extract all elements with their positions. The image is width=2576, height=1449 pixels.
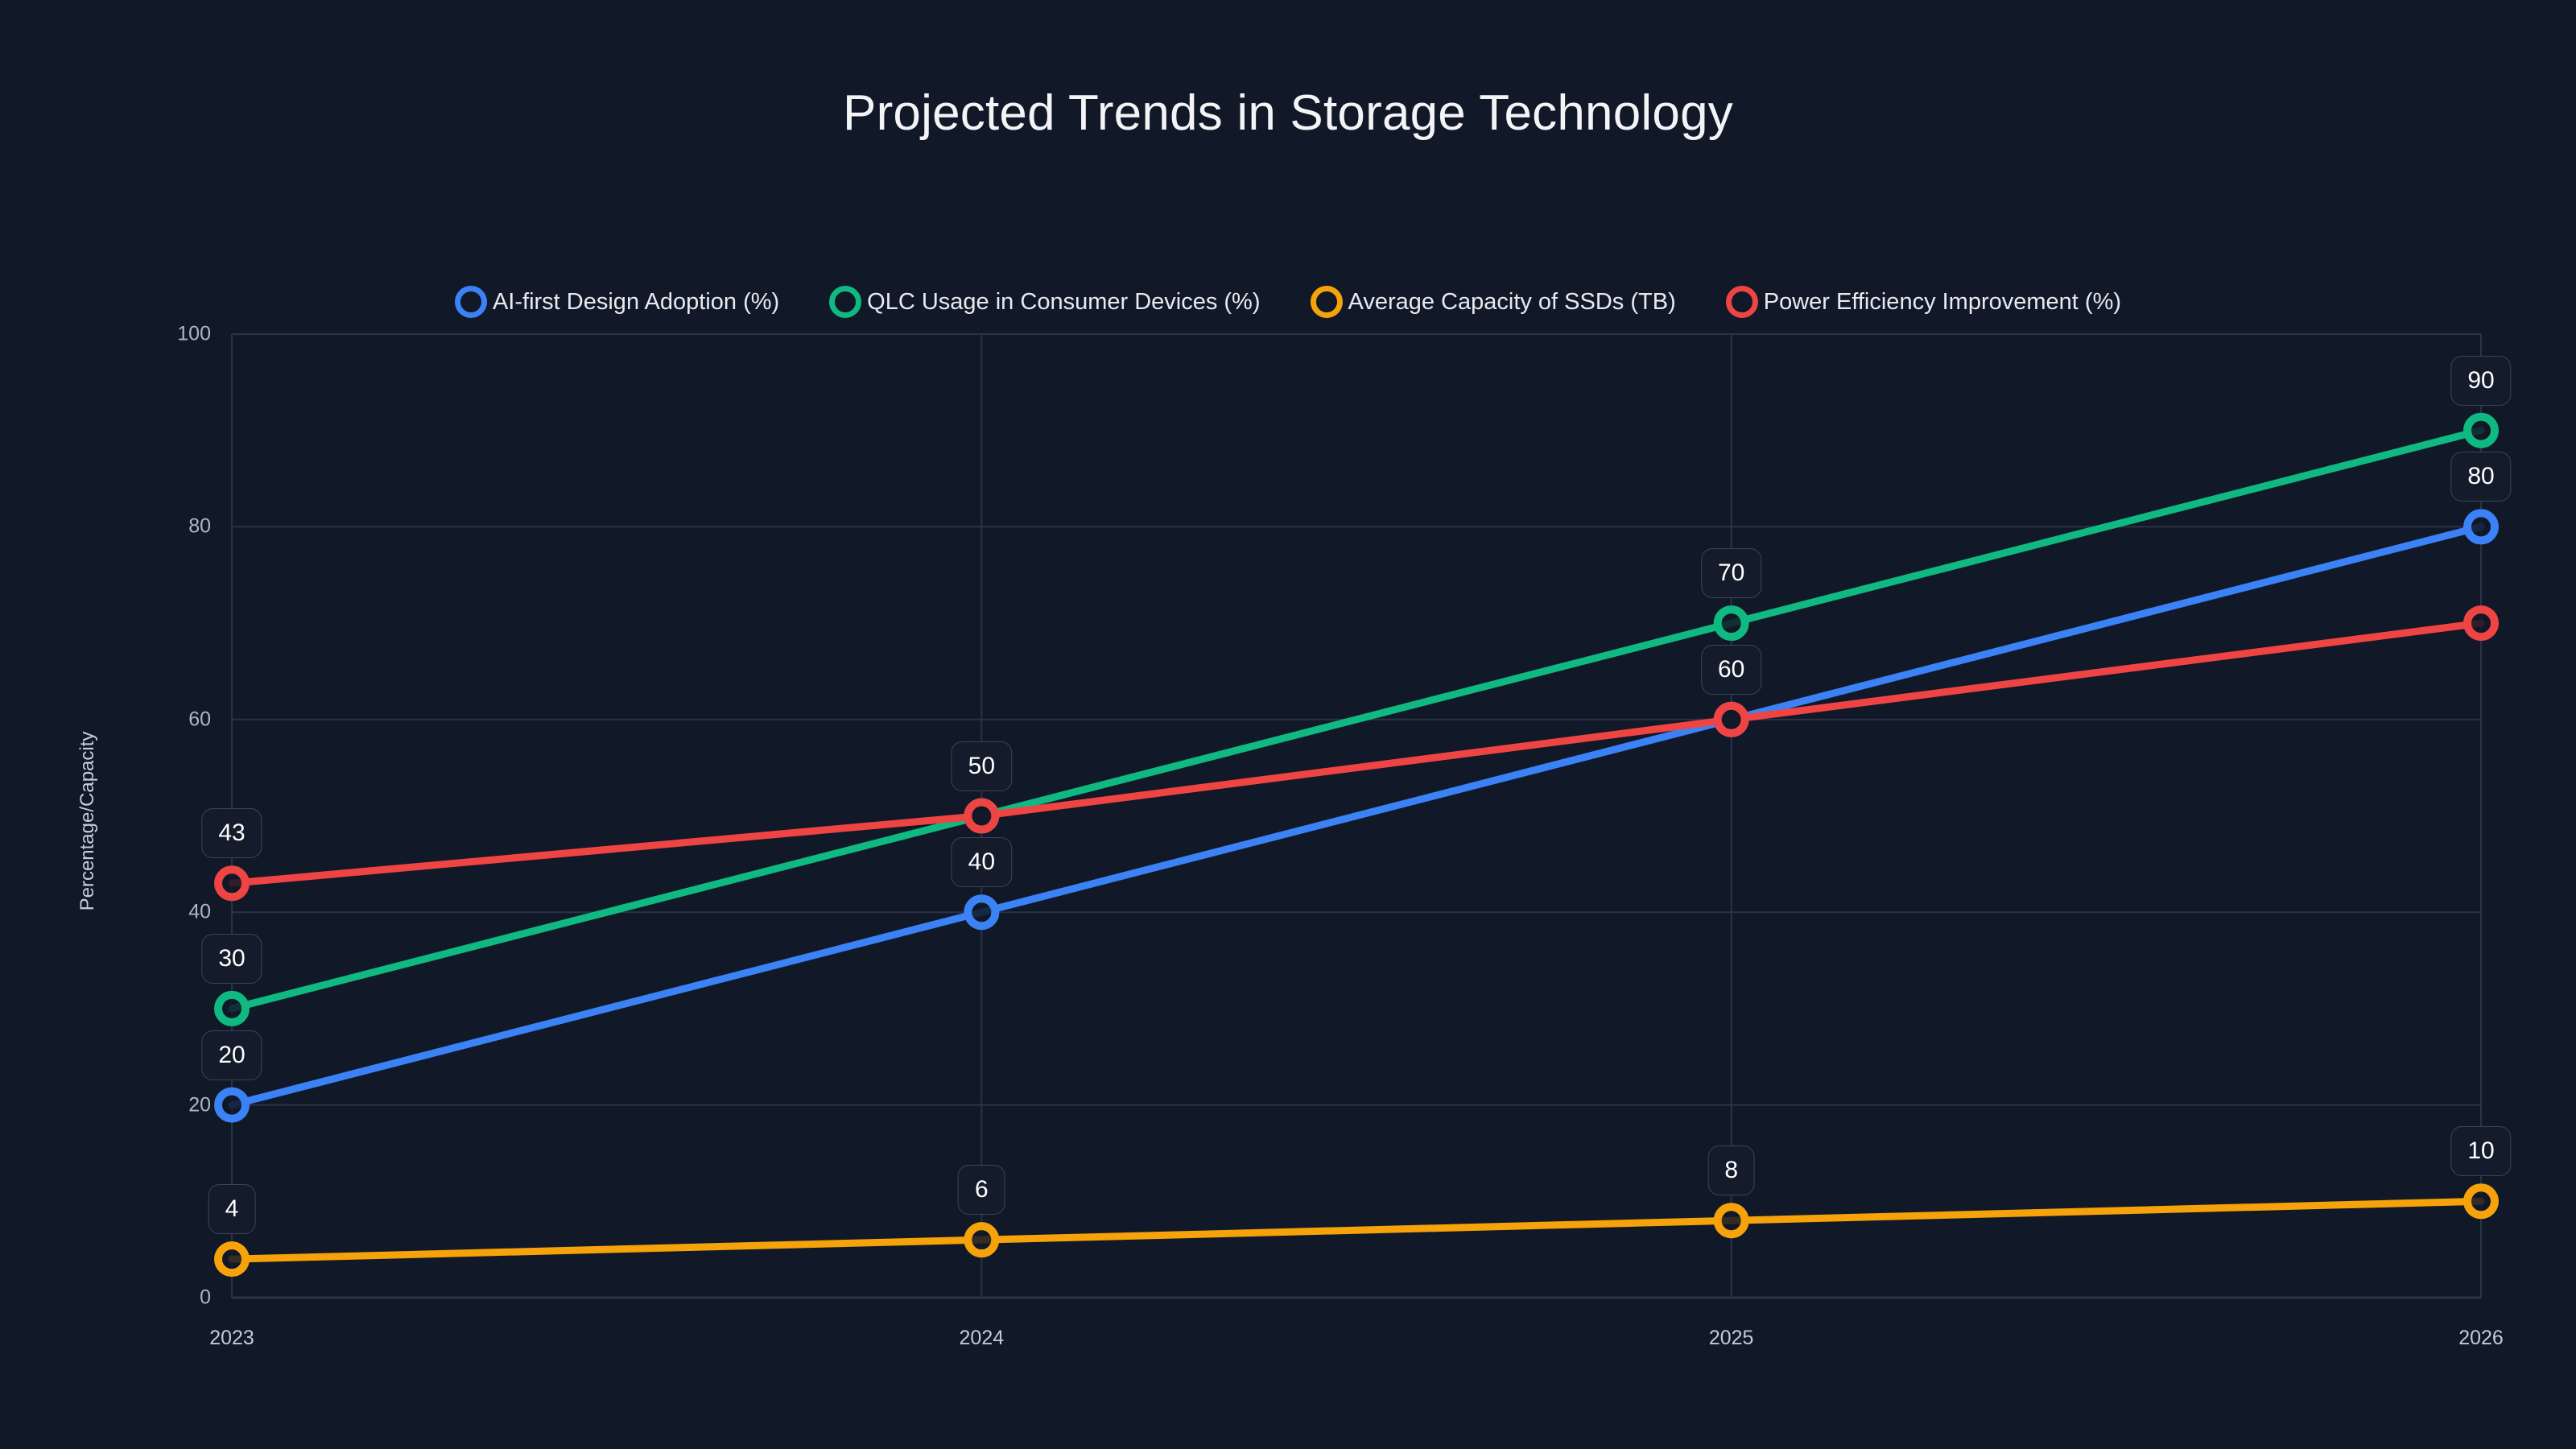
data-point-marker[interactable]	[968, 898, 995, 926]
data-point-marker[interactable]	[2467, 513, 2495, 540]
y-axis-tick-label: 20	[0, 1093, 211, 1117]
x-axis-tick-label: 2025	[1709, 1327, 1754, 1350]
data-value-label: 8	[1707, 1146, 1755, 1195]
data-value-label: 40	[952, 837, 1012, 887]
x-axis-tick-label: 2024	[960, 1327, 1005, 1350]
data-value-label: 60	[1701, 645, 1761, 695]
chart-plot-area: Percentage/Capacity 020406080100 2023202…	[0, 0, 2576, 1449]
y-axis-tick-label: 0	[0, 1286, 211, 1310]
data-value-label: 20	[201, 1030, 262, 1080]
series-line	[232, 1201, 2481, 1259]
data-value-label: 43	[201, 808, 262, 858]
data-point-marker[interactable]	[2467, 609, 2495, 637]
data-point-marker[interactable]	[218, 995, 246, 1022]
data-point-marker[interactable]	[1718, 1207, 1745, 1234]
data-value-label: 80	[2450, 452, 2511, 502]
data-point-marker[interactable]	[218, 869, 246, 897]
data-value-label: 50	[952, 741, 1012, 791]
series-line	[232, 526, 2481, 1104]
series-markers	[218, 417, 2495, 1273]
data-point-marker[interactable]	[218, 1245, 246, 1273]
data-value-label: 10	[2450, 1126, 2511, 1176]
data-point-marker[interactable]	[2467, 1187, 2495, 1215]
y-axis-tick-label: 100	[0, 323, 211, 346]
x-axis-tick-label: 2023	[209, 1327, 254, 1350]
chart-canvas	[0, 0, 2576, 1449]
y-axis-tick-label: 60	[0, 708, 211, 731]
series-lines	[232, 431, 2481, 1259]
data-point-marker[interactable]	[1718, 609, 1745, 637]
data-point-marker[interactable]	[968, 1226, 995, 1253]
data-value-label: 4	[208, 1184, 256, 1234]
data-value-label: 30	[201, 934, 262, 984]
y-axis-tick-label: 40	[0, 901, 211, 924]
data-value-label: 70	[1701, 548, 1761, 598]
y-axis-tick-label: 80	[0, 515, 211, 539]
data-value-label: 6	[958, 1165, 1005, 1215]
data-value-label: 90	[2450, 356, 2511, 406]
data-point-marker[interactable]	[968, 803, 995, 830]
x-axis-tick-label: 2026	[2458, 1327, 2504, 1350]
data-point-marker[interactable]	[2467, 417, 2495, 444]
data-point-marker[interactable]	[1718, 706, 1745, 733]
data-point-marker[interactable]	[218, 1092, 246, 1119]
y-axis-title: Percentage/Capacity	[76, 732, 99, 911]
series-line	[232, 623, 2481, 883]
